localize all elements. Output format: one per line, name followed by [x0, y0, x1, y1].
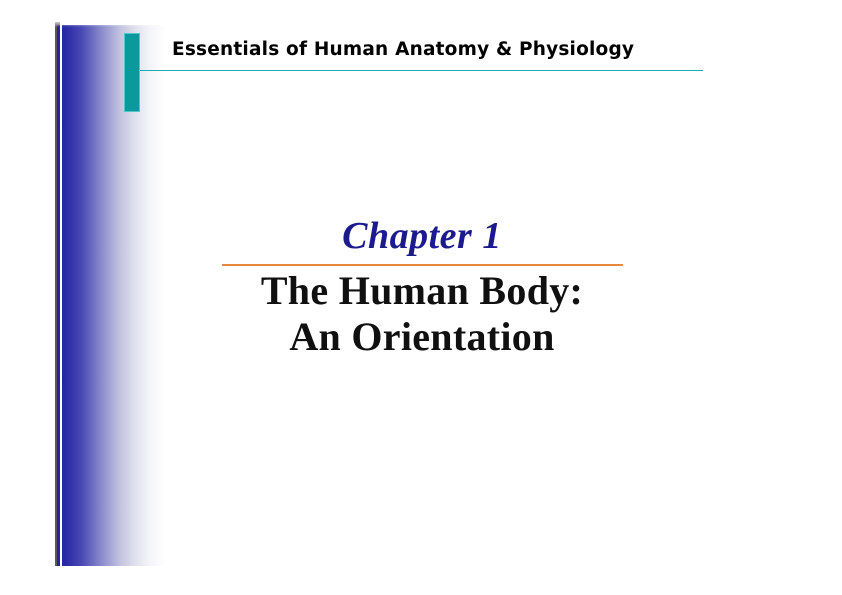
slide-title-line-2: An Orientation: [172, 314, 672, 360]
left-band-highlight: [60, 25, 62, 566]
title-divider-rule: [222, 264, 623, 266]
header-divider-rule: [140, 70, 703, 71]
left-band-top-fade: [55, 20, 170, 27]
teal-accent-bar: [124, 33, 140, 112]
left-gradient-band: [57, 25, 170, 566]
header-title: Essentials of Human Anatomy & Physiology: [172, 39, 634, 60]
title-block: Chapter 1 The Human Body: An Orientation: [172, 216, 672, 361]
chapter-label: Chapter 1: [172, 216, 672, 258]
slide-title-line-1: The Human Body:: [172, 268, 672, 314]
slide-canvas: Essentials of Human Anatomy & Physiology…: [0, 0, 842, 595]
